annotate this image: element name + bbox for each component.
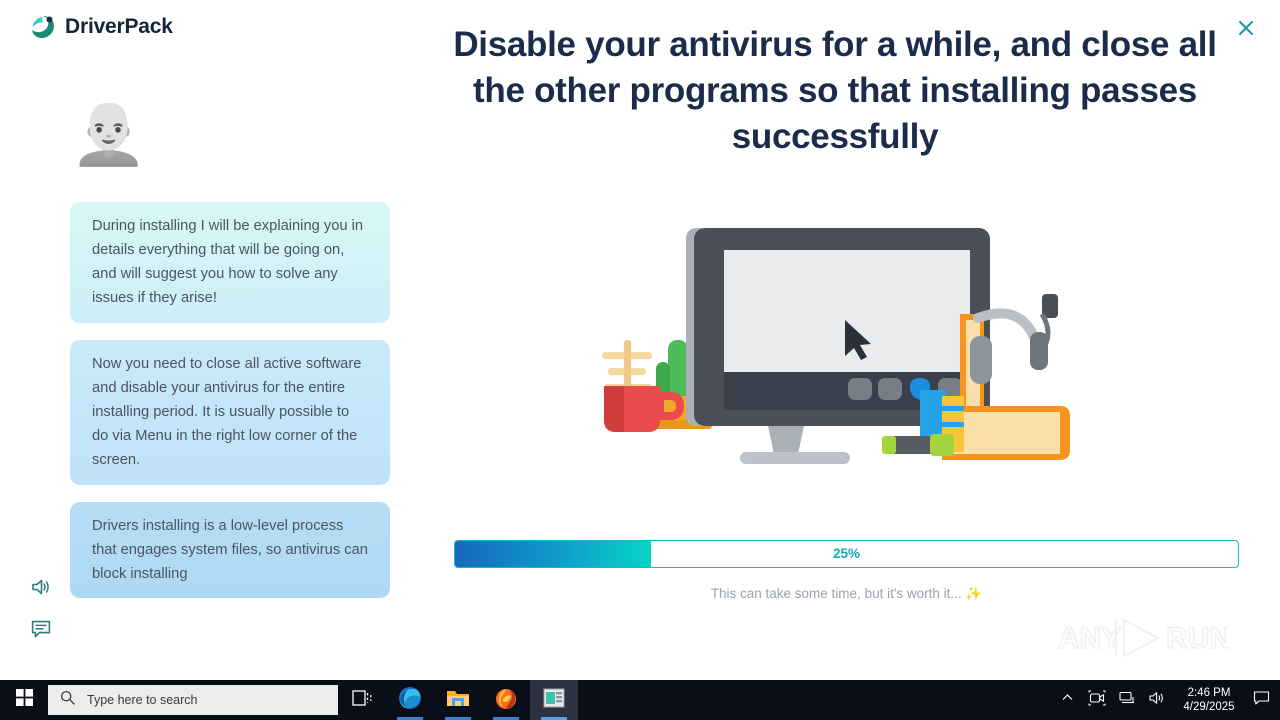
assistant-message: Now you need to close all active softwar…: [70, 340, 390, 485]
page-title: Disable your antivirus for a while, and …: [450, 22, 1220, 160]
edge-icon: [398, 686, 422, 715]
assistant-avatar: 👨‍🦲: [70, 94, 130, 174]
desktop-workspace-illustration: [590, 210, 1090, 470]
search-icon: [60, 690, 75, 710]
chevron-up-icon: [1061, 691, 1074, 709]
tray-volume-icon[interactable]: [1142, 680, 1172, 720]
notification-center-button[interactable]: [1246, 680, 1276, 720]
taskbar-driverpack[interactable]: [530, 680, 578, 720]
progress-percent-label: 25%: [455, 541, 1238, 567]
install-progress-bar[interactable]: 25%: [454, 540, 1239, 568]
assistant-panel: 👨‍🦲 During installing I will be explaini…: [0, 0, 440, 680]
sound-icon[interactable]: [30, 576, 52, 598]
progress-area: 25% This can take some time, but it's wo…: [454, 540, 1254, 602]
network-icon: [1118, 690, 1136, 711]
taskbar-firefox[interactable]: [482, 680, 530, 720]
tray-network-icon[interactable]: [1112, 680, 1142, 720]
system-tray: 2:46 PM 4/29/2025: [1052, 680, 1280, 720]
driverpack-window-icon: [543, 688, 565, 713]
chat-icon[interactable]: [30, 618, 52, 640]
assistant-message: During installing I will be explaining y…: [70, 202, 390, 323]
file-explorer-icon: [446, 687, 470, 714]
taskbar-clock[interactable]: 2:46 PM 4/29/2025: [1172, 680, 1246, 720]
volume-icon: [1148, 690, 1166, 711]
windows-logo-icon: [16, 689, 33, 711]
task-view-icon: [351, 688, 373, 713]
assistant-message-list: During installing I will be explaining y…: [70, 202, 390, 615]
tray-show-hidden-icons[interactable]: [1052, 680, 1082, 720]
start-button[interactable]: [0, 680, 48, 720]
taskbar-app-list: [338, 680, 578, 720]
camera-icon: [1088, 690, 1106, 711]
screen: DriverPack 👨‍🦲 During installing I will …: [0, 0, 1280, 720]
side-toolbar: [30, 576, 52, 640]
progress-note: This can take some time, but it's worth …: [454, 586, 1239, 602]
notification-center-icon: [1253, 690, 1270, 711]
taskbar-task-view[interactable]: [338, 680, 386, 720]
driverpack-installer-window: DriverPack 👨‍🦲 During installing I will …: [0, 0, 1280, 680]
search-input[interactable]: Type here to search: [48, 685, 338, 715]
windows-taskbar: Type here to search: [0, 680, 1280, 720]
firefox-icon: [494, 686, 518, 715]
search-placeholder-text: Type here to search: [87, 693, 197, 707]
tray-camera-icon[interactable]: [1082, 680, 1112, 720]
assistant-message: Drivers installing is a low-level proces…: [70, 502, 390, 598]
taskbar-file-explorer[interactable]: [434, 680, 482, 720]
clock-date: 4/29/2025: [1183, 700, 1234, 714]
main-panel: Disable your antivirus for a while, and …: [440, 0, 1280, 680]
clock-time: 2:46 PM: [1188, 686, 1231, 700]
taskbar-edge[interactable]: [386, 680, 434, 720]
